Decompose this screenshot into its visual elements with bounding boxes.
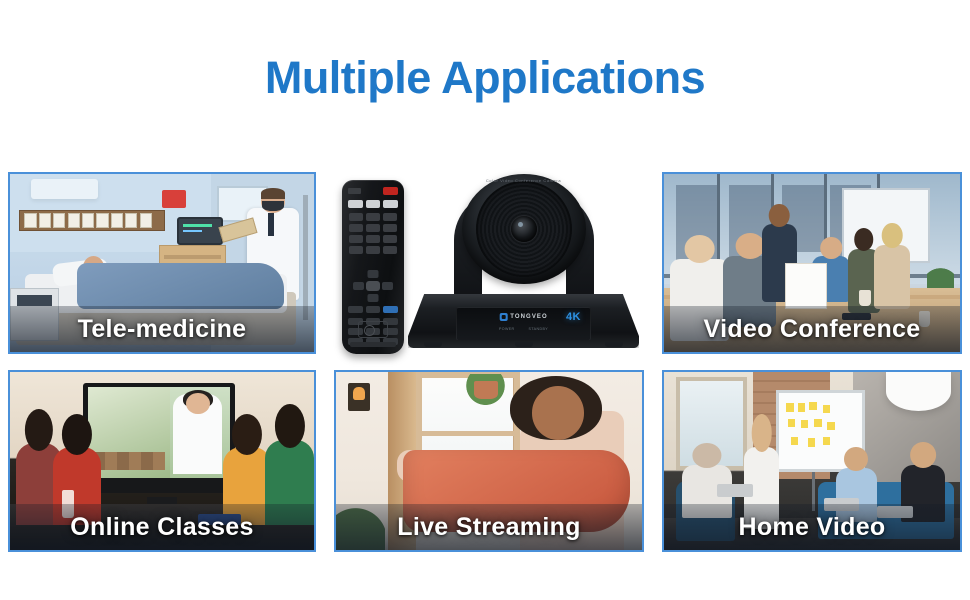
tile-tele-medicine[interactable]: Tele-medicine [8, 172, 316, 354]
tile-caption-band: Video Conference [664, 306, 960, 352]
tile-caption-live-streaming: Live Streaming [397, 513, 580, 542]
page-title: Multiple Applications [0, 49, 970, 107]
camera-lens-ring-text: Color Video Conference Camera [486, 178, 561, 183]
tile-caption-band: Live Streaming [336, 504, 642, 550]
camera-brand-logo: TONGVEO [499, 313, 548, 321]
product-photo-cell: Color Video Conference Camera TONGVEO PO… [334, 172, 644, 354]
led-label-power: POWER [499, 326, 515, 332]
tile-caption-home-video: Home Video [738, 513, 885, 542]
camera-4k-badge: 4K [566, 311, 581, 323]
tile-caption-tele-medicine: Tele-medicine [78, 315, 247, 344]
tile-online-classes[interactable]: Online Classes [8, 370, 316, 552]
application-grid: Tele-medicine [8, 172, 962, 554]
classroom-display [83, 383, 235, 493]
pendant-lamp [886, 372, 951, 411]
remote-camera-icon [358, 321, 388, 338]
remote-control[interactable] [342, 180, 404, 354]
tile-live-streaming[interactable]: Live Streaming [334, 370, 644, 552]
remote-dpad[interactable] [353, 270, 393, 302]
tile-caption-band: Tele-medicine [10, 306, 314, 352]
tongveo-mark-icon [499, 313, 507, 321]
led-label-standby: STANDBY [529, 326, 549, 332]
camera-lens [511, 216, 537, 242]
ptz-camera[interactable]: Color Video Conference Camera TONGVEO PO… [406, 172, 641, 354]
camera-front-panel: TONGVEO POWER STANDBY 4K [456, 307, 591, 341]
tile-home-video[interactable]: Home Video [662, 370, 962, 552]
tile-caption-online-classes: Online Classes [70, 513, 253, 542]
tile-video-conference[interactable]: Video Conference [662, 172, 962, 354]
tile-caption-band: Online Classes [10, 504, 314, 550]
remote-keypad[interactable] [349, 213, 397, 254]
remote-power-button[interactable] [383, 187, 398, 195]
camera-brand-name: TONGVEO [510, 313, 548, 321]
application-showcase-page: Multiple Applications [0, 0, 970, 600]
tile-caption-video-conference: Video Conference [704, 315, 921, 344]
tile-caption-band: Home Video [664, 504, 960, 550]
camera-led-labels: POWER STANDBY [499, 326, 548, 332]
camera-head: Color Video Conference Camera [462, 174, 586, 284]
